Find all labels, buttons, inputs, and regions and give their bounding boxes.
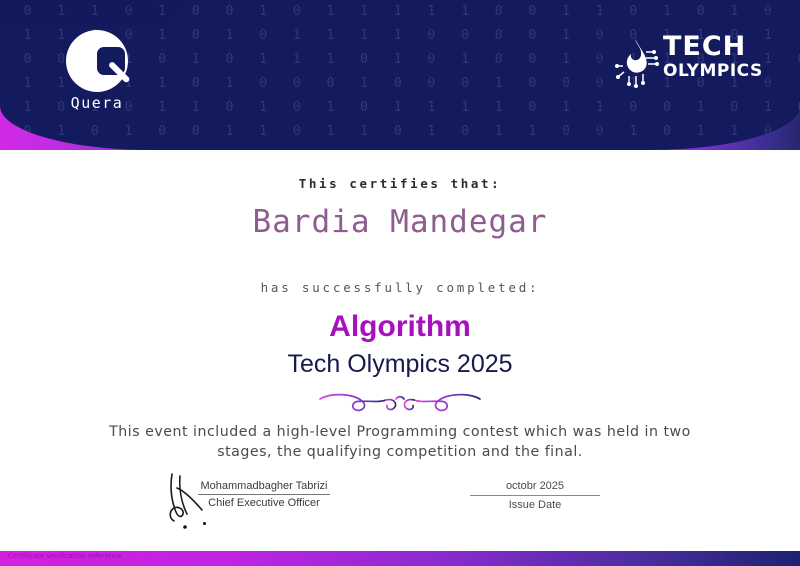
event-description: This event included a high-level Program…	[100, 422, 700, 462]
course-title: Algorithm	[0, 310, 800, 344]
tech-olympics-line1: TECH	[663, 34, 757, 60]
quera-wordmark: Quera	[52, 94, 142, 112]
issue-date-value: octobr 2025	[470, 480, 600, 496]
certificate-header: 1 0 1 1 0 1 0 0 1 0 1 1 1 1 1 0 0 1 1 0 …	[0, 0, 800, 150]
issue-date-block: octobr 2025 Issue Date	[470, 480, 600, 511]
header-navy-corner-left	[0, 0, 190, 26]
signatory-name: Mohammadbagher Tabrizi	[198, 480, 330, 495]
certificate-body: This certifies that: Bardia Mandegar has…	[0, 150, 800, 540]
certifies-label: This certifies that:	[0, 176, 800, 191]
quera-logo: Quera	[52, 30, 142, 110]
ornamental-flourish-divider-icon	[310, 388, 490, 418]
recipient-name: Bardia Mandegar	[0, 204, 800, 240]
certificate: 1 0 1 1 0 1 0 0 1 0 1 1 1 1 1 0 0 1 1 0 …	[0, 0, 800, 566]
quera-q-icon	[66, 30, 128, 92]
signature-block: Mohammadbagher Tabrizi Chief Executive O…	[198, 480, 330, 509]
tech-olympics-logo: TECH OLYMPICS	[615, 34, 755, 94]
tech-olympics-line2: OLYMPICS	[663, 62, 759, 80]
issue-date-label: Issue Date	[470, 496, 600, 511]
certificate-footer: Certificate verification reference	[0, 551, 800, 566]
flame-circuit-icon	[615, 36, 661, 88]
event-title: Tech Olympics 2025	[0, 350, 800, 379]
completed-label: has successfully completed:	[0, 280, 800, 295]
ink-dot	[203, 522, 206, 525]
footer-fine-print: Certificate verification reference	[8, 551, 121, 562]
signatory-role: Chief Executive Officer	[198, 495, 330, 509]
